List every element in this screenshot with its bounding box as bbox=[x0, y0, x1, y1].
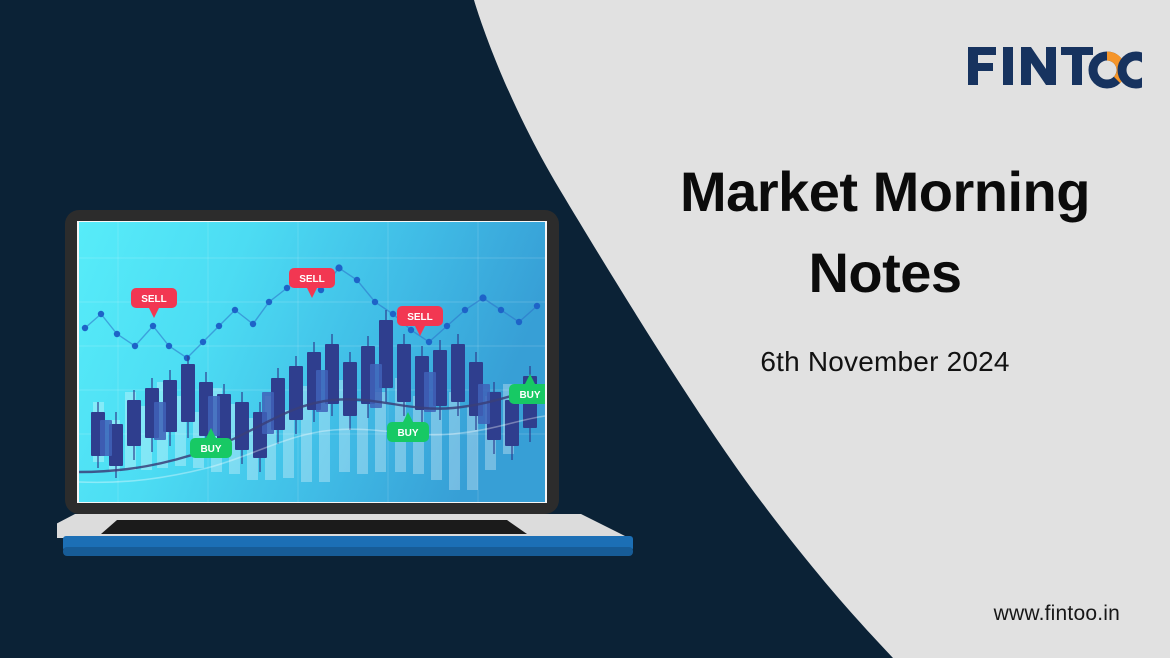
market-morning-notes-banner: Market Morning Notes 6th November 2024 w… bbox=[0, 0, 1170, 658]
signal-label: BUY bbox=[200, 444, 221, 455]
signal-label: BUY bbox=[397, 428, 418, 439]
logo-o-first bbox=[1093, 56, 1121, 84]
page-title-line-2: Notes bbox=[630, 233, 1140, 314]
logo-o-second bbox=[1122, 56, 1142, 84]
fintoo-logo[interactable] bbox=[966, 36, 1142, 94]
signal-label: SELL bbox=[141, 294, 167, 305]
signal-label: SELL bbox=[299, 274, 325, 285]
laptop-screen: SELL SELL SELL BUY bbox=[79, 222, 551, 502]
signal-label: SELL bbox=[407, 312, 433, 323]
page-title: Market Morning Notes bbox=[630, 152, 1140, 313]
page-title-line-1: Market Morning bbox=[680, 160, 1090, 223]
laptop-illustration: SELL SELL SELL BUY bbox=[57, 206, 647, 558]
signal-label: BUY bbox=[519, 390, 540, 401]
publication-date: 6th November 2024 bbox=[630, 346, 1140, 378]
website-url[interactable]: www.fintoo.in bbox=[994, 602, 1120, 626]
laptop-base bbox=[57, 514, 633, 556]
